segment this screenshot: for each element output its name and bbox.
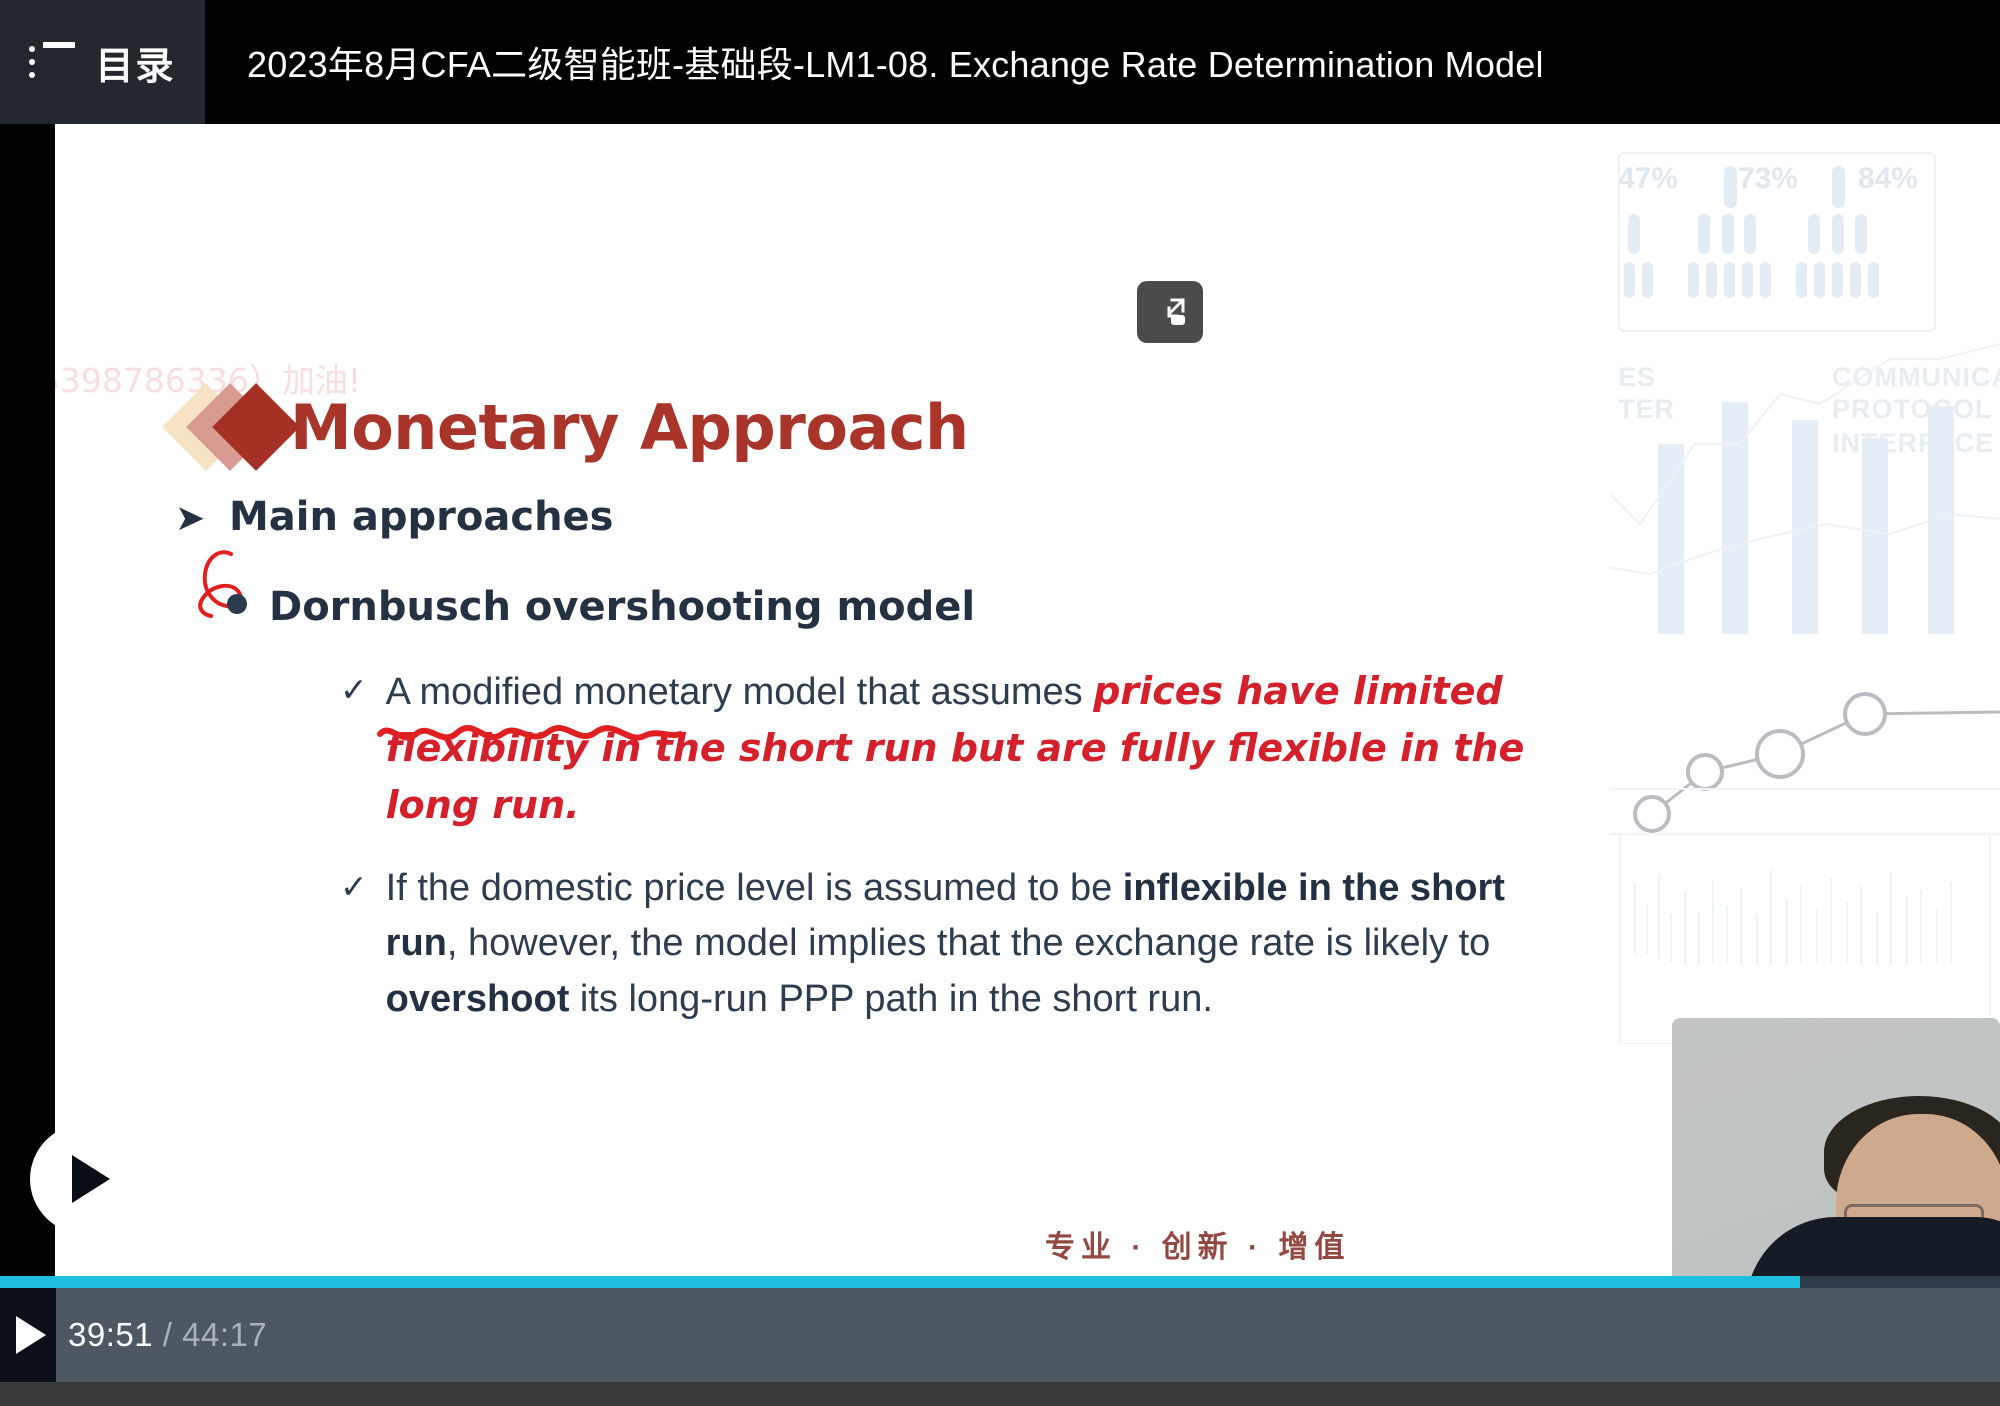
current-time: 39:51 (68, 1316, 153, 1353)
play-triangle-icon (72, 1155, 110, 1203)
check-mark-icon: ✓ (340, 861, 368, 914)
bullet-item-2-text: If the domestic price level is assumed t… (386, 861, 1566, 1029)
infographic-percent-3: 84% (1858, 162, 1918, 196)
time-separator: / (163, 1316, 173, 1353)
bullet-item-1-prefix: A modified monetary model that assumes (386, 671, 1094, 713)
bullet-item-1: ✓ A modified monetary model that assumes… (340, 664, 1595, 835)
bullet-item-2-part1: If the domestic price level is assumed t… (386, 867, 1123, 909)
slide-slogan: 专业 · 创新 · 增值 (1045, 1222, 1350, 1266)
duration: 44:17 (182, 1316, 267, 1353)
infographic-word-2: TER (1618, 394, 1675, 425)
infographic-word-1: ES (1618, 362, 1656, 393)
infographic-word-4: PROTOCOL (1832, 394, 1993, 425)
triple-diamond-logo (175, 379, 290, 475)
progress-bar[interactable] (0, 1276, 2000, 1288)
picture-in-picture-button[interactable] (1137, 281, 1203, 343)
center-play-button[interactable] (30, 1124, 140, 1234)
table-of-contents-button[interactable]: 目录 (0, 0, 205, 124)
app-header: 目录 2023年8月CFA二级智能班-基础段-LM1-08. Exchange … (0, 0, 2000, 124)
controls-bottom-strip (0, 1382, 2000, 1406)
slide-bullets: ➤ Main approaches Dornbusch overshooting… (175, 494, 1595, 1036)
progress-fill (0, 1276, 1800, 1288)
check-mark-icon: ✓ (340, 664, 368, 717)
bullet-level1-label: Main approaches (229, 494, 614, 540)
bullet-item-2-part3: its long-run PPP path in the short run. (569, 978, 1213, 1020)
bullet-item-2-part2: , however, the model implies that the ex… (447, 922, 1490, 964)
infographic-percent-2: 73% (1738, 162, 1798, 196)
toc-label: 目录 (95, 35, 175, 90)
bullet-level1: ➤ Main approaches (175, 494, 1595, 540)
infographic-word-5: INTERFACE (1832, 428, 1994, 459)
bullet-item-1-suffix: . (565, 783, 579, 827)
play-triangle-icon (16, 1316, 46, 1354)
bullet-item-2: ✓ If the domestic price level is assumed… (340, 861, 1595, 1029)
bullet-level2: Dornbusch overshooting model (227, 584, 1595, 630)
instructor-webcam[interactable] (1672, 1018, 2000, 1276)
bullet-item-2-bold2: overshoot (386, 978, 570, 1020)
infographic-word-3: COMMUNICATION (1832, 362, 2000, 393)
list-icon (29, 42, 75, 82)
background-line-chart (1610, 144, 2000, 1044)
video-player-page: 目录 2023年8月CFA二级智能班-基础段-LM1-08. Exchange … (0, 0, 2000, 1406)
slide-title-row: Monetary Approach (175, 379, 969, 475)
video-stage[interactable]: 47% 73% 84% (0, 124, 2000, 1276)
course-title: 2023年8月CFA二级智能班-基础段-LM1-08. Exchange Rat… (205, 0, 2000, 124)
picture-in-picture-icon (1152, 295, 1188, 329)
dot-bullet-icon (227, 594, 247, 614)
bullet-level2-label: Dornbusch overshooting model (269, 584, 975, 630)
webcam-torso (1746, 1217, 2000, 1276)
arrow-bullet-icon: ➤ (175, 501, 205, 537)
infographic-percent-1: 47% (1618, 162, 1678, 196)
time-display: 39:51 / 44:17 (68, 1316, 267, 1354)
player-controls: 39:51 / 44:17 (0, 1288, 2000, 1406)
slide-title: Monetary Approach (290, 391, 969, 464)
bullet-item-1-text: A modified monetary model that assumes p… (386, 664, 1566, 835)
play-pause-button[interactable] (0, 1288, 56, 1382)
